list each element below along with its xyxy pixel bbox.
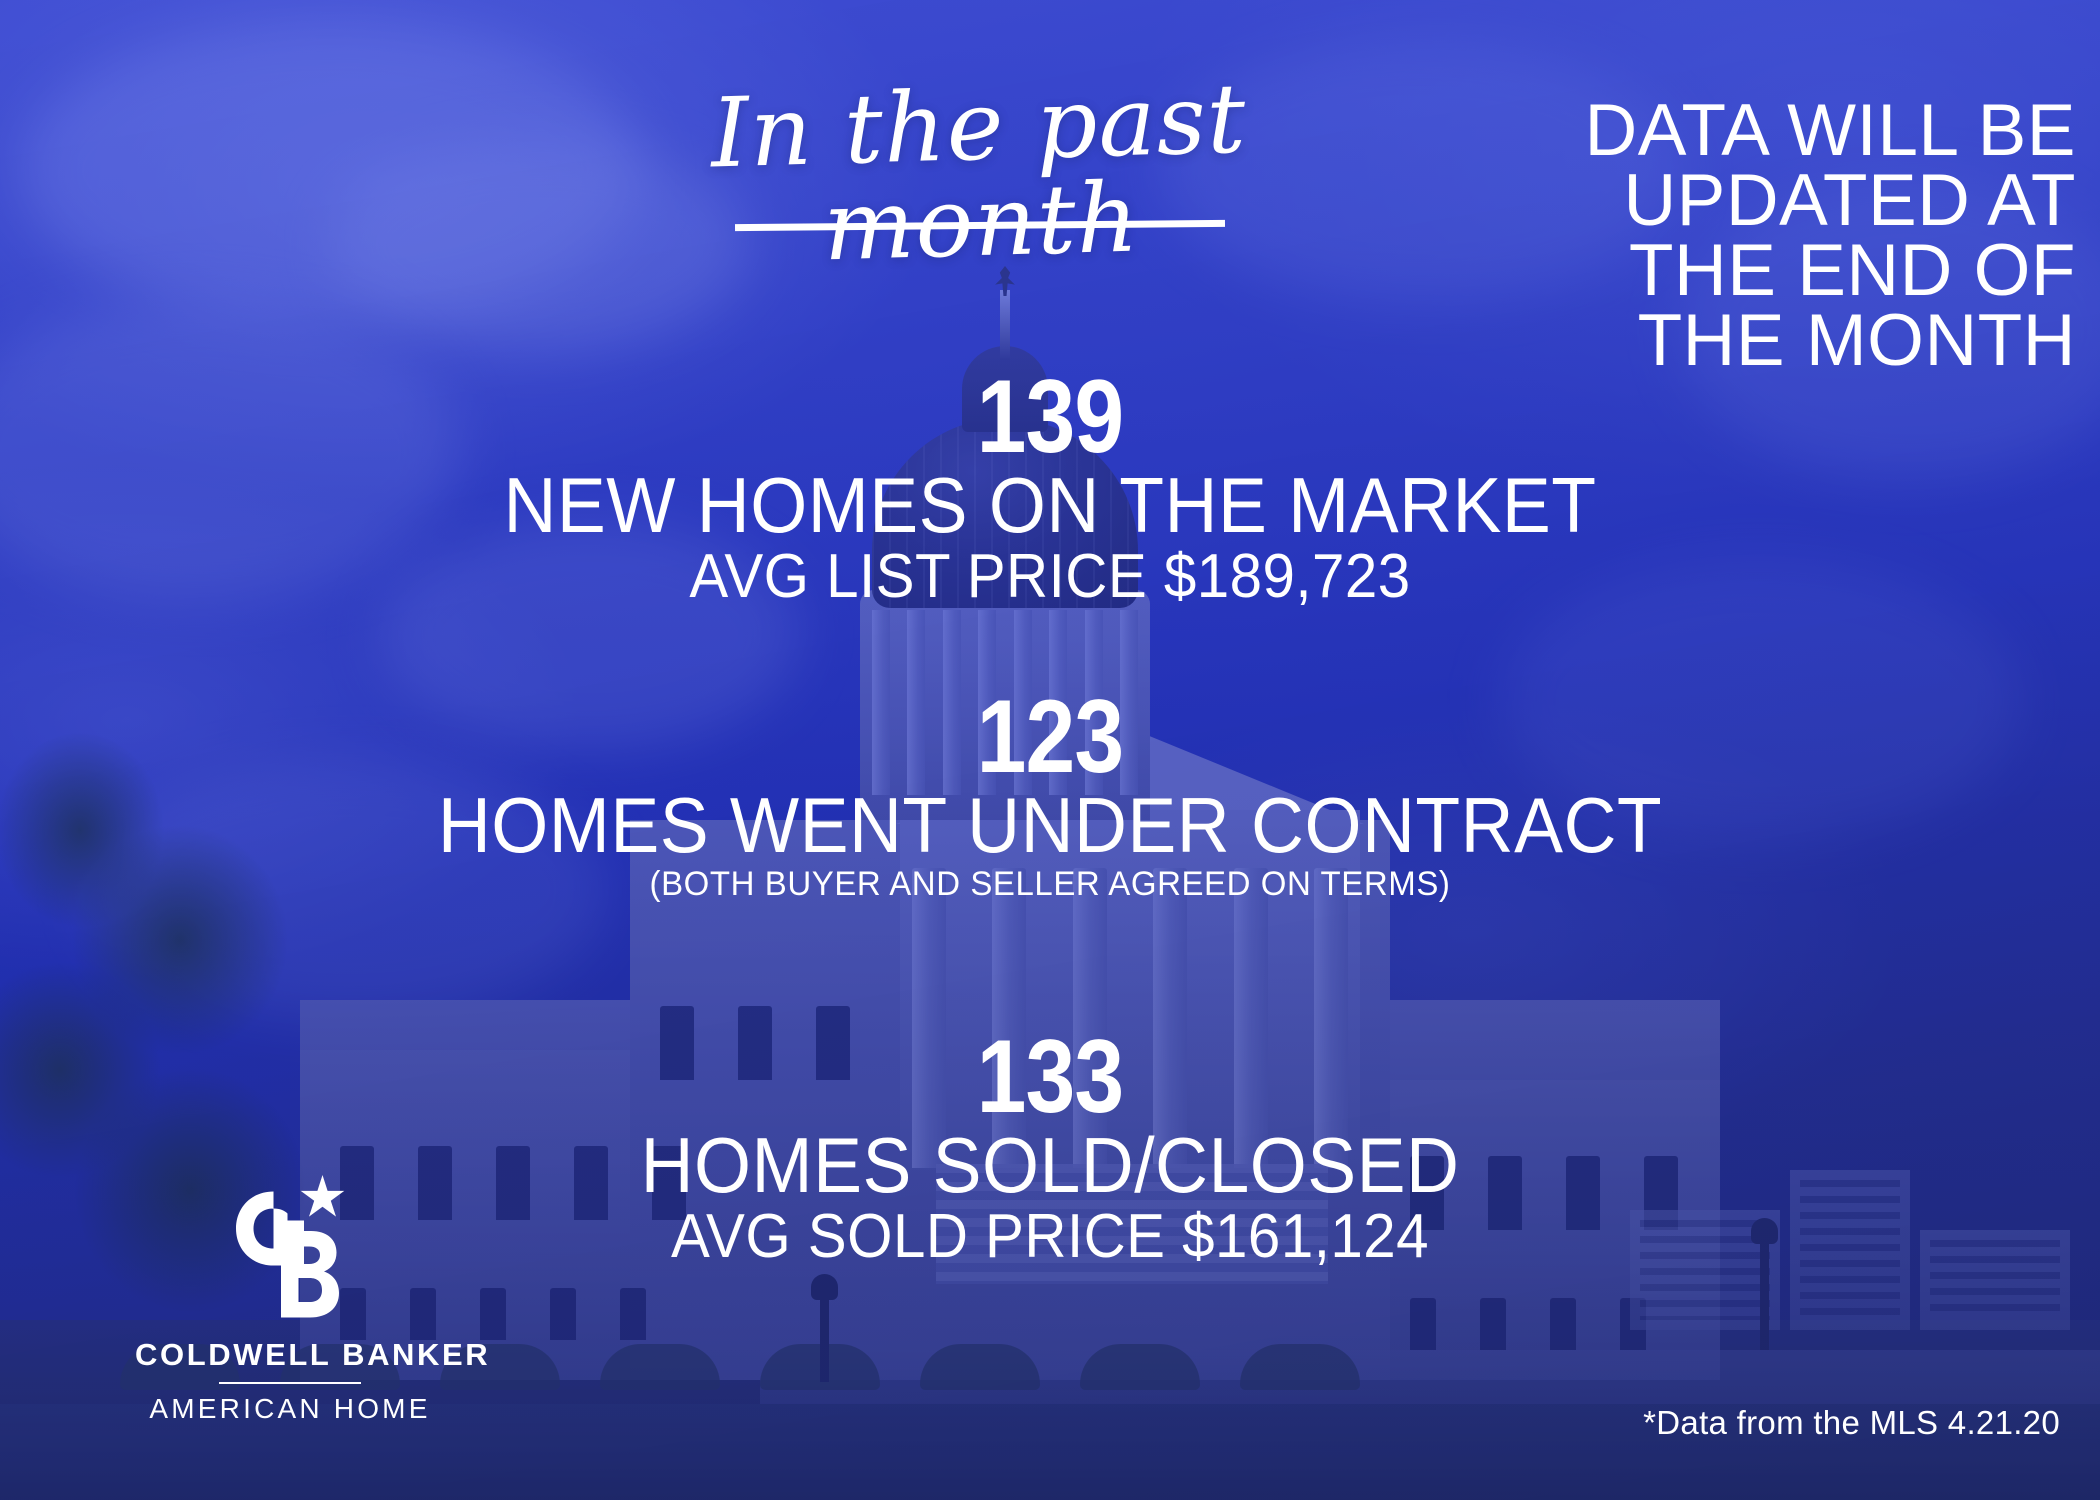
stat-block-new-listings: 139 NEW HOMES ON THE MARKET AVG LIST PRI… [0,370,2100,609]
logo-divider [219,1382,361,1384]
page-title-script: In the past month [597,67,1362,280]
stat-subvalue: AVG LIST PRICE $189,723 [63,544,2037,609]
stat-note: (BOTH BUYER AND SELLER AGREED ON TERMS) [32,864,2069,905]
notice-line-4: THE MONTH [1466,306,2076,376]
logo-brand-name: COLDWELL BANKER [135,1339,445,1370]
infographic-canvas: In the past month DATA WILL BE UPDATED A… [0,0,2100,1500]
content-layer: In the past month DATA WILL BE UPDATED A… [0,0,2100,1500]
logo-affiliate-name: AMERICAN HOME [135,1395,445,1423]
stat-block-under-contract: 123 HOMES WENT UNDER CONTRACT (BOTH BUYE… [0,690,2100,904]
stat-number: 123 [147,690,1953,786]
stat-label: NEW HOMES ON THE MARKET [63,466,2037,544]
update-notice: DATA WILL BE UPDATED AT THE END OF THE M… [1466,96,2076,376]
stat-label: HOMES WENT UNDER CONTRACT [63,786,2037,864]
stat-number: 139 [147,370,1953,466]
notice-line-1: DATA WILL BE [1466,96,2076,166]
data-source-note: *Data from the MLS 4.21.20 [1643,1404,2060,1442]
coldwell-banker-logo: COLDWELL BANKER AMERICAN HOME [135,1175,445,1423]
coldwell-banker-cb-star-icon [226,1175,354,1325]
notice-line-2: UPDATED AT [1466,166,2076,236]
notice-line-3: THE END OF [1466,236,2076,306]
stat-number: 133 [147,1030,1953,1126]
